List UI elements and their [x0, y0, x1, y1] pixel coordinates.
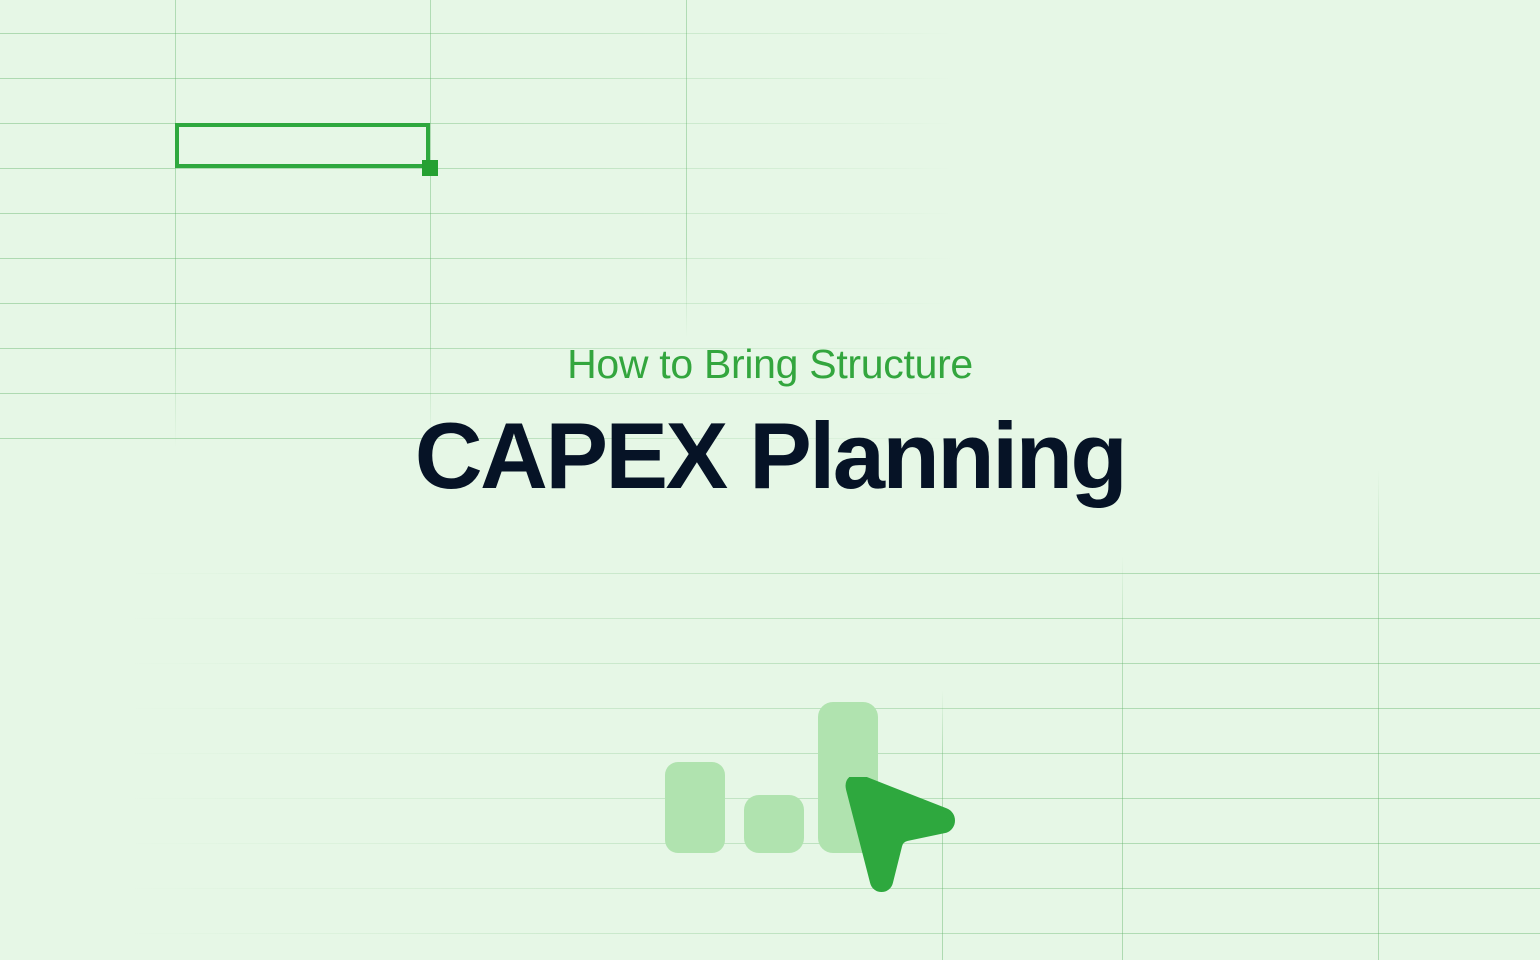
mouse-pointer-icon [845, 777, 955, 892]
page-title: CAPEX Planning [0, 407, 1540, 506]
grid-hline [0, 933, 1540, 934]
hero-eyebrow: How to Bring Structure [0, 344, 1540, 385]
selected-cell-range[interactable] [175, 123, 430, 168]
grid-hline [0, 663, 1540, 664]
chart-bar [744, 795, 804, 853]
grid-hline [0, 213, 1540, 214]
grid-hline [0, 78, 1540, 79]
chart-bar [665, 762, 725, 853]
fill-handle[interactable] [422, 160, 438, 176]
grid-vline [686, 0, 687, 338]
hero-banner: How to Bring Structure CAPEX Planning [0, 0, 1540, 960]
grid-hline [0, 618, 1540, 619]
bar-chart-illustration [660, 692, 960, 897]
hero-text-block: How to Bring Structure CAPEX Planning [0, 344, 1540, 506]
grid-hline [0, 573, 1540, 574]
grid-hline [0, 168, 1540, 169]
grid-vline [1378, 470, 1379, 960]
grid-hline [0, 33, 1540, 34]
grid-vline [1122, 556, 1123, 960]
grid-hline [0, 258, 1540, 259]
grid-hline [0, 303, 1540, 304]
